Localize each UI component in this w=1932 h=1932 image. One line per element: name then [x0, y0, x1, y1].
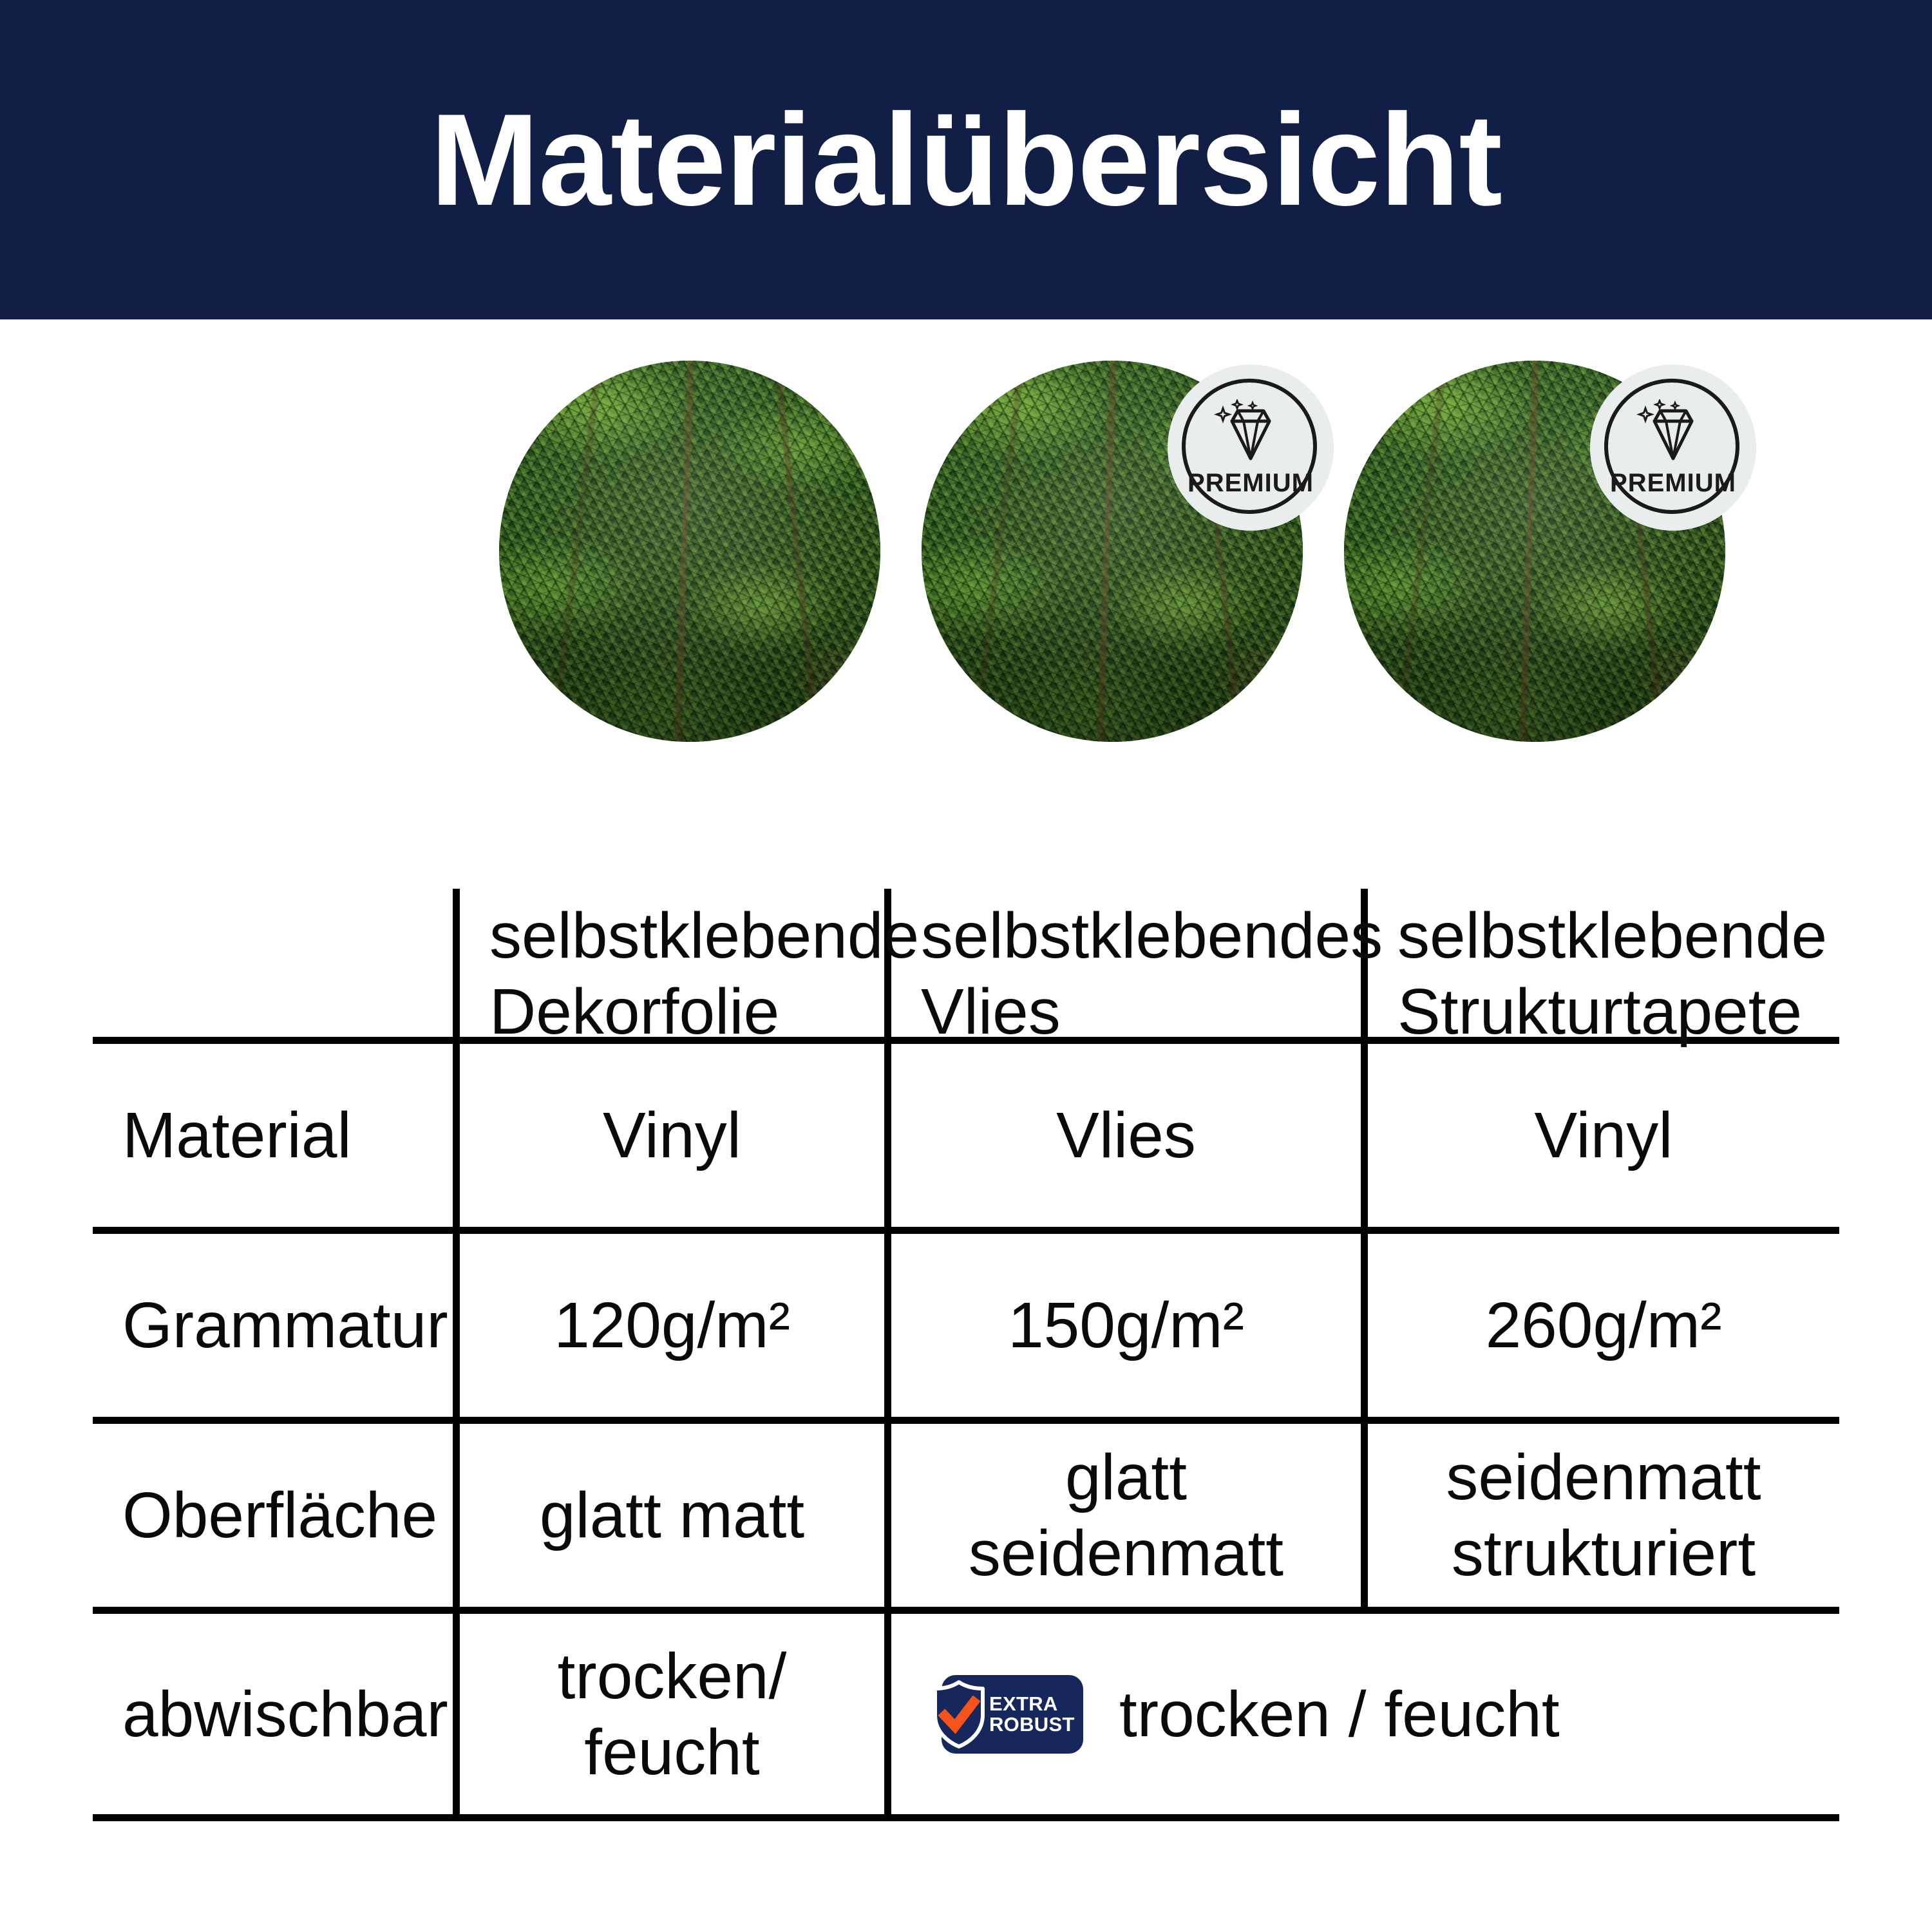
page-header: Materialübersicht: [0, 0, 1932, 319]
table-divider-1: [453, 889, 460, 1821]
table-cell-grammatur-vlies: 150g/m²: [891, 1234, 1361, 1417]
table-cell-oberflaeche-strukturtapete: seidenmatt strukturiert: [1368, 1424, 1839, 1607]
extra-robust-line2: ROBUST: [989, 1713, 1075, 1736]
diamond-icon: [1635, 399, 1711, 466]
table-cell-abwischbar-value-merged: trocken / feucht: [1119, 1676, 1560, 1752]
swatch-item-dekorfolie[interactable]: [499, 361, 880, 742]
extra-robust-badge: EXTRA ROBUST: [942, 1675, 1083, 1754]
table-header-vlies: selbstklebendes Vlies: [891, 889, 1361, 1037]
foliage-shading: [499, 361, 880, 742]
table-header-dekorfolie: selbstklebende Dekorfolie: [460, 889, 884, 1037]
table-rule-3: [93, 1607, 1839, 1614]
table-cell-material-vlies: Vlies: [891, 1044, 1361, 1227]
material-comparison-table: selbstklebende Dekorfolie selbstklebende…: [93, 889, 1839, 1821]
table-cell-oberflaeche-vlies: glatt seidenmatt: [891, 1424, 1361, 1607]
page-title: Materialübersicht: [430, 95, 1502, 225]
premium-badge-label: PREMIUM: [1610, 470, 1736, 496]
table-cell-oberflaeche-dekorfolie: glatt matt: [460, 1424, 884, 1607]
table-cell-material-dekorfolie: Vinyl: [460, 1044, 884, 1227]
material-overview-page: Materialübersicht: [0, 0, 1932, 1932]
table-cell-abwischbar-merged: EXTRA ROBUST trocken / feucht: [891, 1614, 1839, 1814]
table-cell-material-strukturtapete: Vinyl: [1368, 1044, 1839, 1227]
table-row-label-grammatur: Grammatur: [93, 1234, 453, 1417]
diamond-icon: [1213, 399, 1289, 466]
premium-badge: PREMIUM: [1168, 365, 1334, 531]
table-row-label-oberflaeche: Oberfläche: [93, 1424, 453, 1607]
swatch-row: PREMIUM: [0, 355, 1932, 755]
swatch-item-vlies[interactable]: PREMIUM: [922, 361, 1303, 742]
table-cell-grammatur-dekorfolie: 120g/m²: [460, 1234, 884, 1417]
table-row-label-abwischbar: abwischbar: [93, 1614, 453, 1814]
table-rule-bottom: [93, 1814, 1839, 1821]
table-cell-grammatur-strukturtapete: 260g/m²: [1368, 1234, 1839, 1417]
swatch-image-dekorfolie: [499, 361, 880, 742]
shield-check-icon: [931, 1679, 987, 1750]
extra-robust-label: EXTRA ROBUST: [989, 1694, 1075, 1734]
extra-robust-line1: EXTRA: [989, 1692, 1058, 1715]
table-rule-1: [93, 1227, 1839, 1234]
swatch-item-strukturtapete[interactable]: PREMIUM: [1344, 361, 1725, 742]
premium-badge-content: PREMIUM: [1168, 365, 1334, 531]
table-rule-2: [93, 1417, 1839, 1424]
table-row-label-material: Material: [93, 1044, 453, 1227]
premium-badge-content: PREMIUM: [1590, 365, 1756, 531]
premium-badge: PREMIUM: [1590, 365, 1756, 531]
table-header-strukturtapete: selbstklebende Strukturtapete: [1368, 889, 1839, 1037]
table-cell-abwischbar-dekorfolie: trocken/ feucht: [460, 1614, 884, 1814]
premium-badge-label: PREMIUM: [1188, 470, 1314, 496]
